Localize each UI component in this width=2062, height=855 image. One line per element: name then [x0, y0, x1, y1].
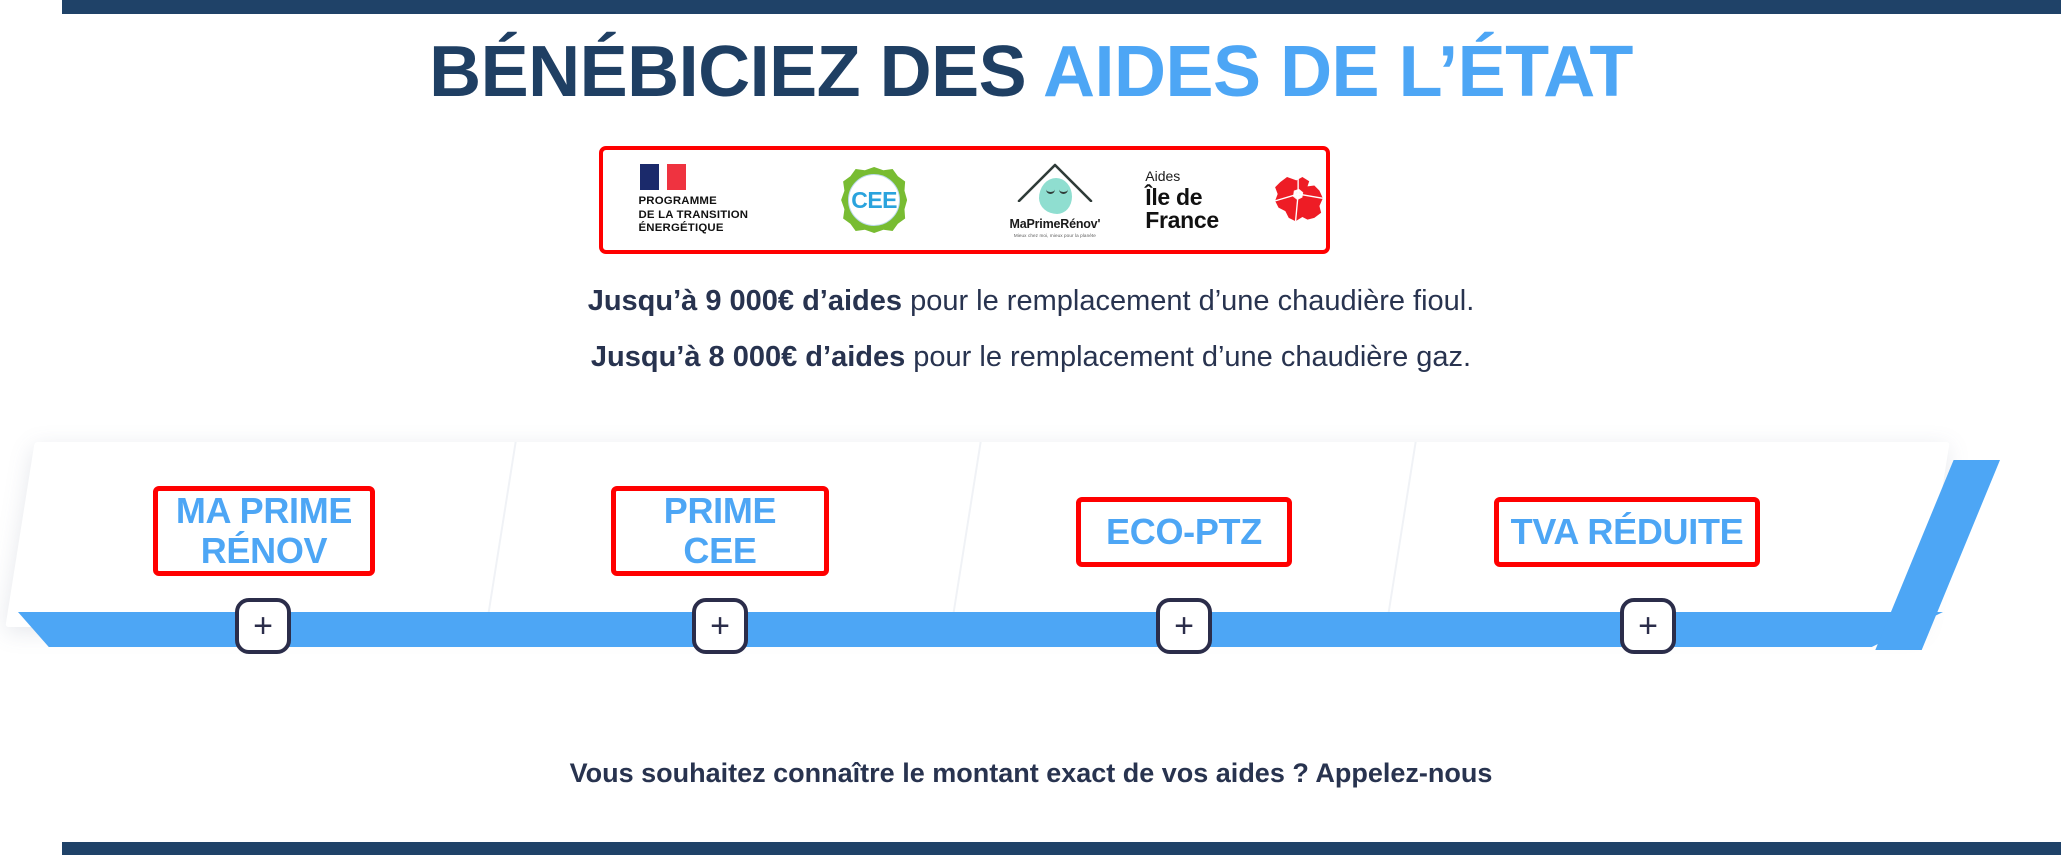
idf-small-label: Aides	[1145, 169, 1180, 183]
aid-card-prime-cee[interactable]: PRIME CEE	[611, 486, 829, 576]
aid-amount-fioul-bold: Jusqu’à 9 000€ d’aides	[588, 285, 902, 317]
logo-programme-transition-label: PROGRAMME DE LA TRANSITION ÉNERGÉTIQUE	[639, 195, 749, 237]
maprimerenov-label: MaPrimeRénov'	[1010, 217, 1101, 231]
aid-card-tva-reduite[interactable]: TVA RÉDUITE	[1494, 497, 1760, 567]
aid-amount-line-gaz: Jusqu’à 8 000€ d’aides pour le remplacem…	[0, 341, 2062, 374]
bottom-accent-bar	[62, 842, 2061, 855]
logo-maprimerenov: MaPrimeRénov' Mieux chez moi, mieux pour…	[965, 150, 1146, 250]
aid-card-ma-prime-renov[interactable]: MA PRIME RÉNOV	[153, 486, 375, 576]
aid-amount-gaz-bold: Jusqu’à 8 000€ d’aides	[591, 341, 905, 373]
expand-button-tva-reduite[interactable]: +	[1620, 598, 1676, 654]
expand-button-eco-ptz[interactable]: +	[1156, 598, 1212, 654]
partner-logos-strip: PROGRAMME DE LA TRANSITION ÉNERGÉTIQUE C…	[599, 146, 1330, 254]
page-title-dark-part: BÉNÉBICIEZ DES	[429, 32, 1043, 112]
aid-card-eco-ptz[interactable]: ECO-PTZ	[1076, 497, 1292, 567]
page-title-blue-part: AIDES DE L’ÉTAT	[1043, 32, 1633, 112]
maprimerenov-tagline: Mieux chez moi, mieux pour la planète	[1014, 233, 1096, 238]
aid-amount-line-fioul: Jusqu’à 9 000€ d’aides pour le remplacem…	[0, 285, 2062, 318]
expand-button-prime-cee[interactable]: +	[692, 598, 748, 654]
footer-call-to-action: Vous souhaitez connaître le montant exac…	[0, 758, 2062, 789]
logo-cee: CEE	[784, 150, 965, 250]
top-accent-bar	[62, 0, 2061, 14]
cee-badge-icon: CEE	[841, 167, 907, 233]
aid-amount-gaz-rest: pour le remplacement d’une chaudière gaz…	[905, 341, 1471, 373]
idf-big-label: Île de France	[1145, 186, 1262, 232]
logo-ile-de-france: Aides Île de France	[1145, 150, 1326, 250]
aids-carousel: MA PRIME RÉNOV PRIME CEE ECO-PTZ TVA RÉD…	[0, 432, 2062, 662]
aid-amount-fioul-rest: pour le remplacement d’une chaudière fio…	[902, 285, 1474, 317]
cee-label: CEE	[851, 189, 897, 212]
page-title: BÉNÉBICIEZ DES AIDES DE L’ÉTAT	[0, 36, 2062, 108]
expand-button-ma-prime-renov[interactable]: +	[235, 598, 291, 654]
french-republic-flag-icon	[640, 164, 686, 190]
ile-de-france-map-icon	[1270, 171, 1326, 229]
logo-programme-transition-energetique: PROGRAMME DE LA TRANSITION ÉNERGÉTIQUE	[603, 150, 784, 250]
maprimerenov-house-icon	[1017, 162, 1093, 214]
